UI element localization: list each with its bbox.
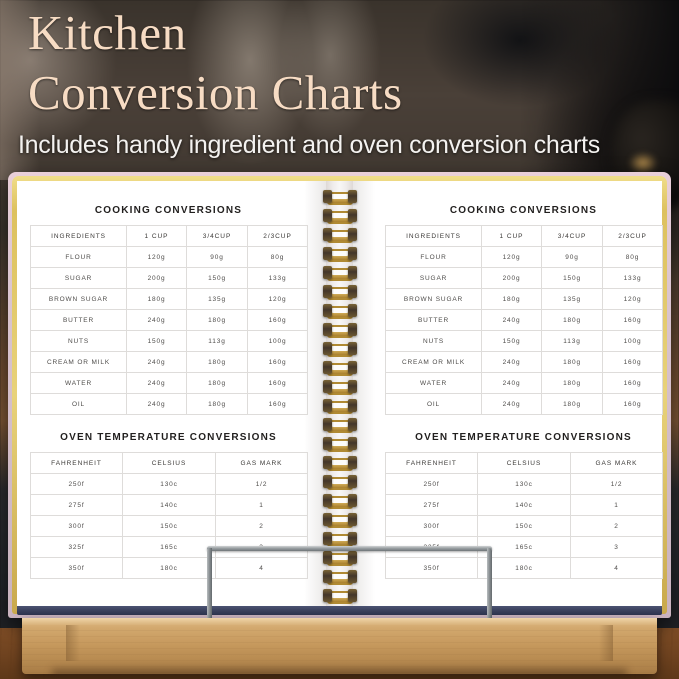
table-cell: 100g — [603, 331, 663, 352]
table-cell: 150g — [482, 331, 542, 352]
table-cell: CREAM OR MILK — [386, 352, 482, 373]
table-cell: SUGAR — [31, 268, 127, 289]
table-cell: 275f — [386, 495, 478, 516]
spiral-ring-cap-right — [348, 323, 357, 336]
table-cell: 180g — [187, 373, 248, 394]
table-row: BUTTER240g180g160g — [386, 310, 663, 331]
table-cell: 133g — [603, 268, 663, 289]
table-cell: 300f — [386, 516, 478, 537]
table-header-cell: CELSIUS — [478, 453, 571, 474]
table-header-cell: INGREDIENTS — [31, 226, 127, 247]
spiral-ring-cap-right — [348, 380, 357, 393]
oven-temperature-table: FAHRENHEITCELSIUSGAS MARK250f130c1/2275f… — [30, 452, 308, 579]
oven-temperature-table: FAHRENHEITCELSIUSGAS MARK250f130c1/2275f… — [385, 452, 663, 579]
spiral-ring-cap-left — [323, 247, 332, 260]
stand-right-notch — [599, 625, 613, 661]
page-subtitle: Includes handy ingredient and oven conve… — [18, 131, 600, 160]
table-cell: 240g — [482, 394, 542, 415]
wooden-cookbook-stand — [22, 618, 657, 674]
spiral-ring — [323, 247, 357, 260]
table-cell: 180g — [187, 352, 248, 373]
table-cell: 113g — [542, 331, 603, 352]
spiral-ring-cap-left — [323, 589, 332, 602]
table-row: 300f150c2 — [386, 516, 663, 537]
table-cell: 200g — [482, 268, 542, 289]
table-cell: NUTS — [31, 331, 127, 352]
table-header-row: FAHRENHEITCELSIUSGAS MARK — [31, 453, 308, 474]
spiral-ring — [323, 475, 357, 488]
table-cell: WATER — [31, 373, 127, 394]
table-header-cell: CELSIUS — [123, 453, 216, 474]
table-cell: 300f — [31, 516, 123, 537]
page-title-line-1: Kitchen — [28, 8, 187, 57]
spiral-ring-inner — [332, 441, 348, 446]
table-cell: 240g — [482, 373, 542, 394]
spiral-ring-cap-left — [323, 437, 332, 450]
wood-grain-texture — [22, 618, 657, 674]
spiral-ring — [323, 266, 357, 279]
table-cell: 325f — [386, 537, 478, 558]
spiral-ring — [323, 418, 357, 431]
spiral-ring — [323, 304, 357, 317]
spiral-ring-cap-left — [323, 551, 332, 564]
table-cell: FLOUR — [386, 247, 482, 268]
spiral-ring — [323, 209, 357, 222]
cooking-conversions-heading: COOKING CONVERSIONS — [30, 205, 307, 216]
table-cell: 150g — [542, 268, 603, 289]
spiral-ring — [323, 494, 357, 507]
spiral-ring-cap-left — [323, 342, 332, 355]
table-row: 350f180c4 — [386, 558, 663, 579]
table-cell: 140c — [123, 495, 216, 516]
spiral-ring-cap-left — [323, 380, 332, 393]
table-row: WATER240g180g160g — [31, 373, 308, 394]
table-header-cell: 3/4CUP — [187, 226, 248, 247]
table-row: WATER240g180g160g — [386, 373, 663, 394]
table-cell: BUTTER — [31, 310, 127, 331]
table-cell: 240g — [127, 310, 187, 331]
spiral-ring — [323, 361, 357, 374]
table-cell: 160g — [248, 373, 308, 394]
stand-left-notch — [66, 625, 80, 661]
table-cell: WATER — [386, 373, 482, 394]
spiral-ring — [323, 570, 357, 583]
spiral-ring-inner — [332, 308, 348, 313]
table-cell: 130c — [478, 474, 571, 495]
spiral-ring-cap-right — [348, 456, 357, 469]
spiral-ring-cap-left — [323, 456, 332, 469]
table-cell: 240g — [482, 352, 542, 373]
spiral-ring-inner — [332, 384, 348, 389]
spiral-ring-inner — [332, 574, 348, 579]
table-cell: 180g — [187, 394, 248, 415]
table-cell: 113g — [187, 331, 248, 352]
spiral-ring — [323, 342, 357, 355]
spiral-ring-inner — [332, 593, 348, 598]
table-cell: 3 — [571, 537, 663, 558]
table-cell: BROWN SUGAR — [386, 289, 482, 310]
spiral-ring-cap-right — [348, 285, 357, 298]
table-cell: 160g — [248, 310, 308, 331]
spiral-ring-cap-left — [323, 190, 332, 203]
table-cell: 240g — [127, 373, 187, 394]
table-row: NUTS150g113g100g — [386, 331, 663, 352]
table-cell: 2 — [571, 516, 663, 537]
table-cell: 133g — [248, 268, 308, 289]
table-row: FLOUR120g90g80g — [31, 247, 308, 268]
table-cell: 4 — [216, 558, 308, 579]
spiral-ring-cap-right — [348, 532, 357, 545]
table-cell: 4 — [571, 558, 663, 579]
table-cell: 160g — [603, 373, 663, 394]
table-header-cell: 2/3CUP — [248, 226, 308, 247]
spiral-ring-cap-right — [348, 570, 357, 583]
table-header-cell: INGREDIENTS — [386, 226, 482, 247]
spiral-ring-cap-left — [323, 285, 332, 298]
table-cell: 120g — [127, 247, 187, 268]
spiral-ring-cap-right — [348, 589, 357, 602]
spiral-ring-cap-right — [348, 494, 357, 507]
table-cell: 180g — [187, 310, 248, 331]
table-header-row: INGREDIENTS1 CUP3/4CUP2/3CUP — [386, 226, 663, 247]
table-cell: 160g — [603, 310, 663, 331]
stand-cast-shadow — [52, 669, 627, 679]
spiral-ring — [323, 513, 357, 526]
spiral-ring-cap-right — [348, 266, 357, 279]
table-cell: 140c — [478, 495, 571, 516]
spiral-ring-inner — [332, 498, 348, 503]
table-cell: 165c — [123, 537, 216, 558]
table-row: FLOUR120g90g80g — [386, 247, 663, 268]
table-header-cell: GAS MARK — [571, 453, 663, 474]
table-row: 275f140c1 — [31, 495, 308, 516]
table-cell: 180c — [123, 558, 216, 579]
table-cell: 240g — [127, 394, 187, 415]
spiral-ring-cap-left — [323, 361, 332, 374]
spiral-ring-cap-left — [323, 266, 332, 279]
table-header-cell: GAS MARK — [216, 453, 308, 474]
table-header-cell: 3/4CUP — [542, 226, 603, 247]
table-row: OIL240g180g160g — [31, 394, 308, 415]
table-cell: 150c — [123, 516, 216, 537]
spiral-ring-inner — [332, 460, 348, 465]
spiral-ring-inner — [332, 289, 348, 294]
spiral-ring — [323, 437, 357, 450]
table-cell: CREAM OR MILK — [31, 352, 127, 373]
spiral-ring-cap-left — [323, 304, 332, 317]
spiral-ring-cap-left — [323, 323, 332, 336]
spiral-ring-inner — [332, 555, 348, 560]
table-header-cell: 1 CUP — [482, 226, 542, 247]
spiral-ring-cap-right — [348, 418, 357, 431]
table-cell: BROWN SUGAR — [31, 289, 127, 310]
oven-temperature-heading: OVEN TEMPERATURE CONVERSIONS — [385, 432, 662, 443]
table-cell: 325f — [31, 537, 123, 558]
table-row: OIL240g180g160g — [386, 394, 663, 415]
table-cell: 1/2 — [216, 474, 308, 495]
table-cell: 120g — [248, 289, 308, 310]
table-header-cell: 2/3CUP — [603, 226, 663, 247]
spiral-binding — [323, 190, 357, 610]
table-row: 300f150c2 — [31, 516, 308, 537]
spiral-ring-inner — [332, 422, 348, 427]
table-cell: 180g — [482, 289, 542, 310]
table-cell: 1 — [571, 495, 663, 516]
spiral-ring-cap-right — [348, 228, 357, 241]
spiral-ring-inner — [332, 346, 348, 351]
spiral-ring-cap-right — [348, 361, 357, 374]
table-cell: FLOUR — [31, 247, 127, 268]
spiral-ring-inner — [332, 213, 348, 218]
table-cell: OIL — [386, 394, 482, 415]
table-header-cell: FAHRENHEIT — [386, 453, 478, 474]
spiral-ring-cap-right — [348, 475, 357, 488]
table-row: 275f140c1 — [386, 495, 663, 516]
spiral-ring-cap-left — [323, 209, 332, 222]
table-cell: 240g — [127, 352, 187, 373]
table-cell: 120g — [482, 247, 542, 268]
table-cell: 180g — [542, 394, 603, 415]
spiral-ring — [323, 551, 357, 564]
spiral-ring — [323, 589, 357, 602]
table-cell: 1/2 — [571, 474, 663, 495]
oven-temperature-heading: OVEN TEMPERATURE CONVERSIONS — [30, 432, 307, 443]
table-header-cell: 1 CUP — [127, 226, 187, 247]
table-row: SUGAR200g150g133g — [386, 268, 663, 289]
table-cell: 250f — [31, 474, 123, 495]
table-cell: 120g — [603, 289, 663, 310]
spiral-ring — [323, 228, 357, 241]
spiral-ring-cap-left — [323, 494, 332, 507]
page-title-line-2: Conversion Charts — [28, 68, 403, 117]
table-cell: 130c — [123, 474, 216, 495]
spiral-ring-inner — [332, 327, 348, 332]
table-cell: 160g — [603, 394, 663, 415]
spiral-ring — [323, 399, 357, 412]
table-header-row: INGREDIENTS1 CUP3/4CUP2/3CUP — [31, 226, 308, 247]
spiral-ring-cap-right — [348, 209, 357, 222]
spiral-ring-inner — [332, 270, 348, 275]
spiral-ring-cap-right — [348, 190, 357, 203]
table-row: SUGAR200g150g133g — [31, 268, 308, 289]
table-cell: 2 — [216, 516, 308, 537]
table-cell: 150g — [187, 268, 248, 289]
spiral-ring-inner — [332, 251, 348, 256]
table-cell: 180g — [542, 373, 603, 394]
cooking-conversions-table: INGREDIENTS1 CUP3/4CUP2/3CUPFLOUR120g90g… — [30, 225, 308, 415]
spiral-ring — [323, 190, 357, 203]
table-header-cell: FAHRENHEIT — [31, 453, 123, 474]
spiral-ring-cap-right — [348, 551, 357, 564]
cooking-conversions-heading: COOKING CONVERSIONS — [385, 205, 662, 216]
table-row: 325f165c3 — [31, 537, 308, 558]
spiral-ring-cap-left — [323, 228, 332, 241]
table-cell: BUTTER — [386, 310, 482, 331]
table-header-row: FAHRENHEITCELSIUSGAS MARK — [386, 453, 663, 474]
table-cell: 165c — [478, 537, 571, 558]
spiral-ring-inner — [332, 479, 348, 484]
table-cell: 180g — [542, 352, 603, 373]
spiral-ring — [323, 323, 357, 336]
spiral-ring — [323, 285, 357, 298]
table-cell: 180g — [127, 289, 187, 310]
left-page-content: COOKING CONVERSIONS INGREDIENTS1 CUP3/4C… — [30, 172, 307, 618]
table-cell: 90g — [187, 247, 248, 268]
table-cell: 3 — [216, 537, 308, 558]
table-cell: 100g — [248, 331, 308, 352]
table-row: NUTS150g113g100g — [31, 331, 308, 352]
table-row: CREAM OR MILK240g180g160g — [386, 352, 663, 373]
table-row: 250f130c1/2 — [31, 474, 308, 495]
spiral-ring — [323, 456, 357, 469]
spiral-ring-cap-right — [348, 247, 357, 260]
table-cell: 150c — [478, 516, 571, 537]
spiral-ring-cap-right — [348, 342, 357, 355]
table-row: BROWN SUGAR180g135g120g — [386, 289, 663, 310]
table-cell: 200g — [127, 268, 187, 289]
table-cell: SUGAR — [386, 268, 482, 289]
spiral-ring-cap-left — [323, 418, 332, 431]
table-row: 250f130c1/2 — [386, 474, 663, 495]
table-cell: 250f — [386, 474, 478, 495]
spiral-ring-cap-left — [323, 513, 332, 526]
table-cell: 90g — [542, 247, 603, 268]
table-row: BROWN SUGAR180g135g120g — [31, 289, 308, 310]
table-cell: 240g — [482, 310, 542, 331]
table-cell: 135g — [542, 289, 603, 310]
table-cell: 350f — [386, 558, 478, 579]
spiral-ring-cap-right — [348, 304, 357, 317]
spiral-ring-cap-left — [323, 532, 332, 545]
spiral-ring-cap-left — [323, 399, 332, 412]
spiral-ring-cap-right — [348, 513, 357, 526]
background-gold-glint — [628, 152, 658, 174]
table-row: CREAM OR MILK240g180g160g — [31, 352, 308, 373]
spiral-ring-inner — [332, 403, 348, 408]
right-page-content: COOKING CONVERSIONS INGREDIENTS1 CUP3/4C… — [385, 172, 662, 618]
table-row: 325f165c3 — [386, 537, 663, 558]
table-cell: 80g — [603, 247, 663, 268]
table-cell: 275f — [31, 495, 123, 516]
product-listing-image: Kitchen Conversion Charts Includes handy… — [0, 0, 679, 679]
spiral-ring — [323, 380, 357, 393]
table-row: BUTTER240g180g160g — [31, 310, 308, 331]
table-cell: 160g — [248, 394, 308, 415]
spiral-ring-inner — [332, 365, 348, 370]
spiral-ring-cap-right — [348, 399, 357, 412]
table-cell: 350f — [31, 558, 123, 579]
table-cell: NUTS — [386, 331, 482, 352]
table-cell: 135g — [187, 289, 248, 310]
spiral-ring-cap-left — [323, 570, 332, 583]
table-cell: 80g — [248, 247, 308, 268]
spiral-ring-inner — [332, 517, 348, 522]
table-cell: 150g — [127, 331, 187, 352]
table-cell: 160g — [603, 352, 663, 373]
spiral-ring — [323, 532, 357, 545]
spiral-ring-cap-left — [323, 475, 332, 488]
cooking-conversions-table: INGREDIENTS1 CUP3/4CUP2/3CUPFLOUR120g90g… — [385, 225, 663, 415]
spiral-ring-inner — [332, 536, 348, 541]
table-cell: OIL — [31, 394, 127, 415]
stand-front-lip — [22, 618, 657, 625]
spiral-ring-inner — [332, 232, 348, 237]
spiral-bound-book: COOKING CONVERSIONS INGREDIENTS1 CUP3/4C… — [8, 172, 671, 618]
spiral-ring-cap-right — [348, 437, 357, 450]
table-cell: 160g — [248, 352, 308, 373]
table-cell: 1 — [216, 495, 308, 516]
table-cell: 180g — [542, 310, 603, 331]
table-row: 350f180c4 — [31, 558, 308, 579]
table-cell: 180c — [478, 558, 571, 579]
spiral-ring-inner — [332, 194, 348, 199]
